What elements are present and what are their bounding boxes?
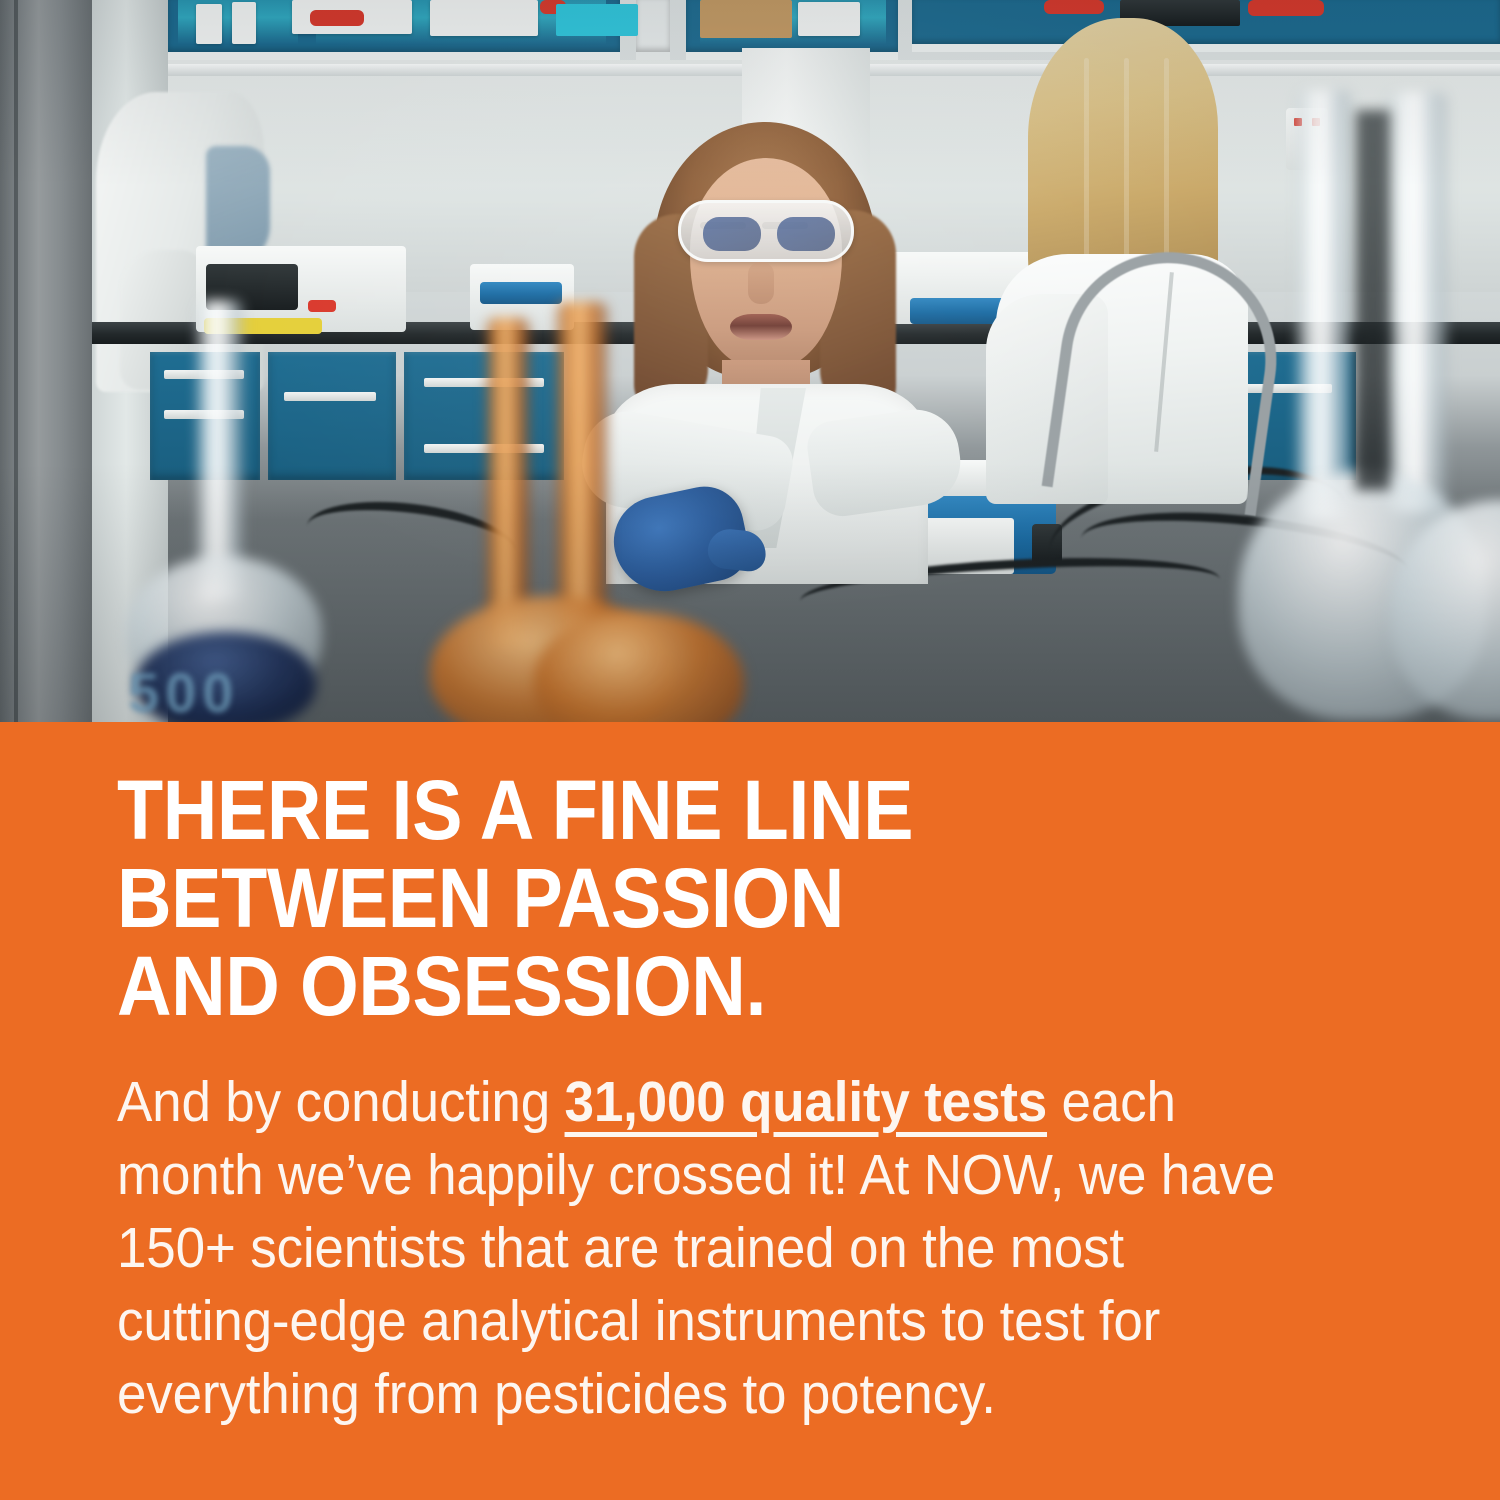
goggle-lens [703,217,761,251]
shelf-label-red [1044,0,1104,14]
scientist-nose [748,262,774,304]
base-cabinet [404,352,564,480]
goggle-lens [777,217,835,251]
highlighted-stat: 31,000 quality tests [565,1070,1047,1134]
base-cabinet [268,352,396,480]
shelf-label-red [310,10,364,26]
lab-photo: 500 [0,0,1500,722]
marketing-graphic: 500 THERE IS A FINE LINE BETWEEN PASSION… [0,0,1500,1500]
instrument-panel-blue [480,282,562,304]
shelf-box [196,4,222,44]
graduated-cylinder [1296,90,1352,520]
safety-goggles [678,200,854,262]
shelf-box [798,2,860,36]
graduated-cylinder [1386,92,1448,512]
body-paragraph: And by conducting 31,000 quality tests e… [117,1066,1294,1431]
flask-volume-label: 500 [128,660,239,722]
shelf-box-kraft [700,0,792,38]
cabinet-handle [284,392,376,401]
page-title: THERE IS A FINE LINE BETWEEN PASSION AND… [117,766,1256,1030]
shelf-box-cyan [556,4,638,36]
door-frame [0,0,92,722]
upper-cabinet-divider [636,0,670,60]
dark-background-column [1356,110,1390,490]
orange-message-panel: THERE IS A FINE LINE BETWEEN PASSION AND… [0,722,1500,1500]
body-lead: And by conducting [117,1070,565,1134]
foreground-flask-neck [196,300,244,600]
foreground-scientist [596,122,936,562]
shelf-box [430,0,538,36]
shelf-box [232,2,256,44]
scientist-mouth [730,314,792,340]
shelf-label-red [1248,0,1324,16]
instrument-indicator [308,300,336,312]
